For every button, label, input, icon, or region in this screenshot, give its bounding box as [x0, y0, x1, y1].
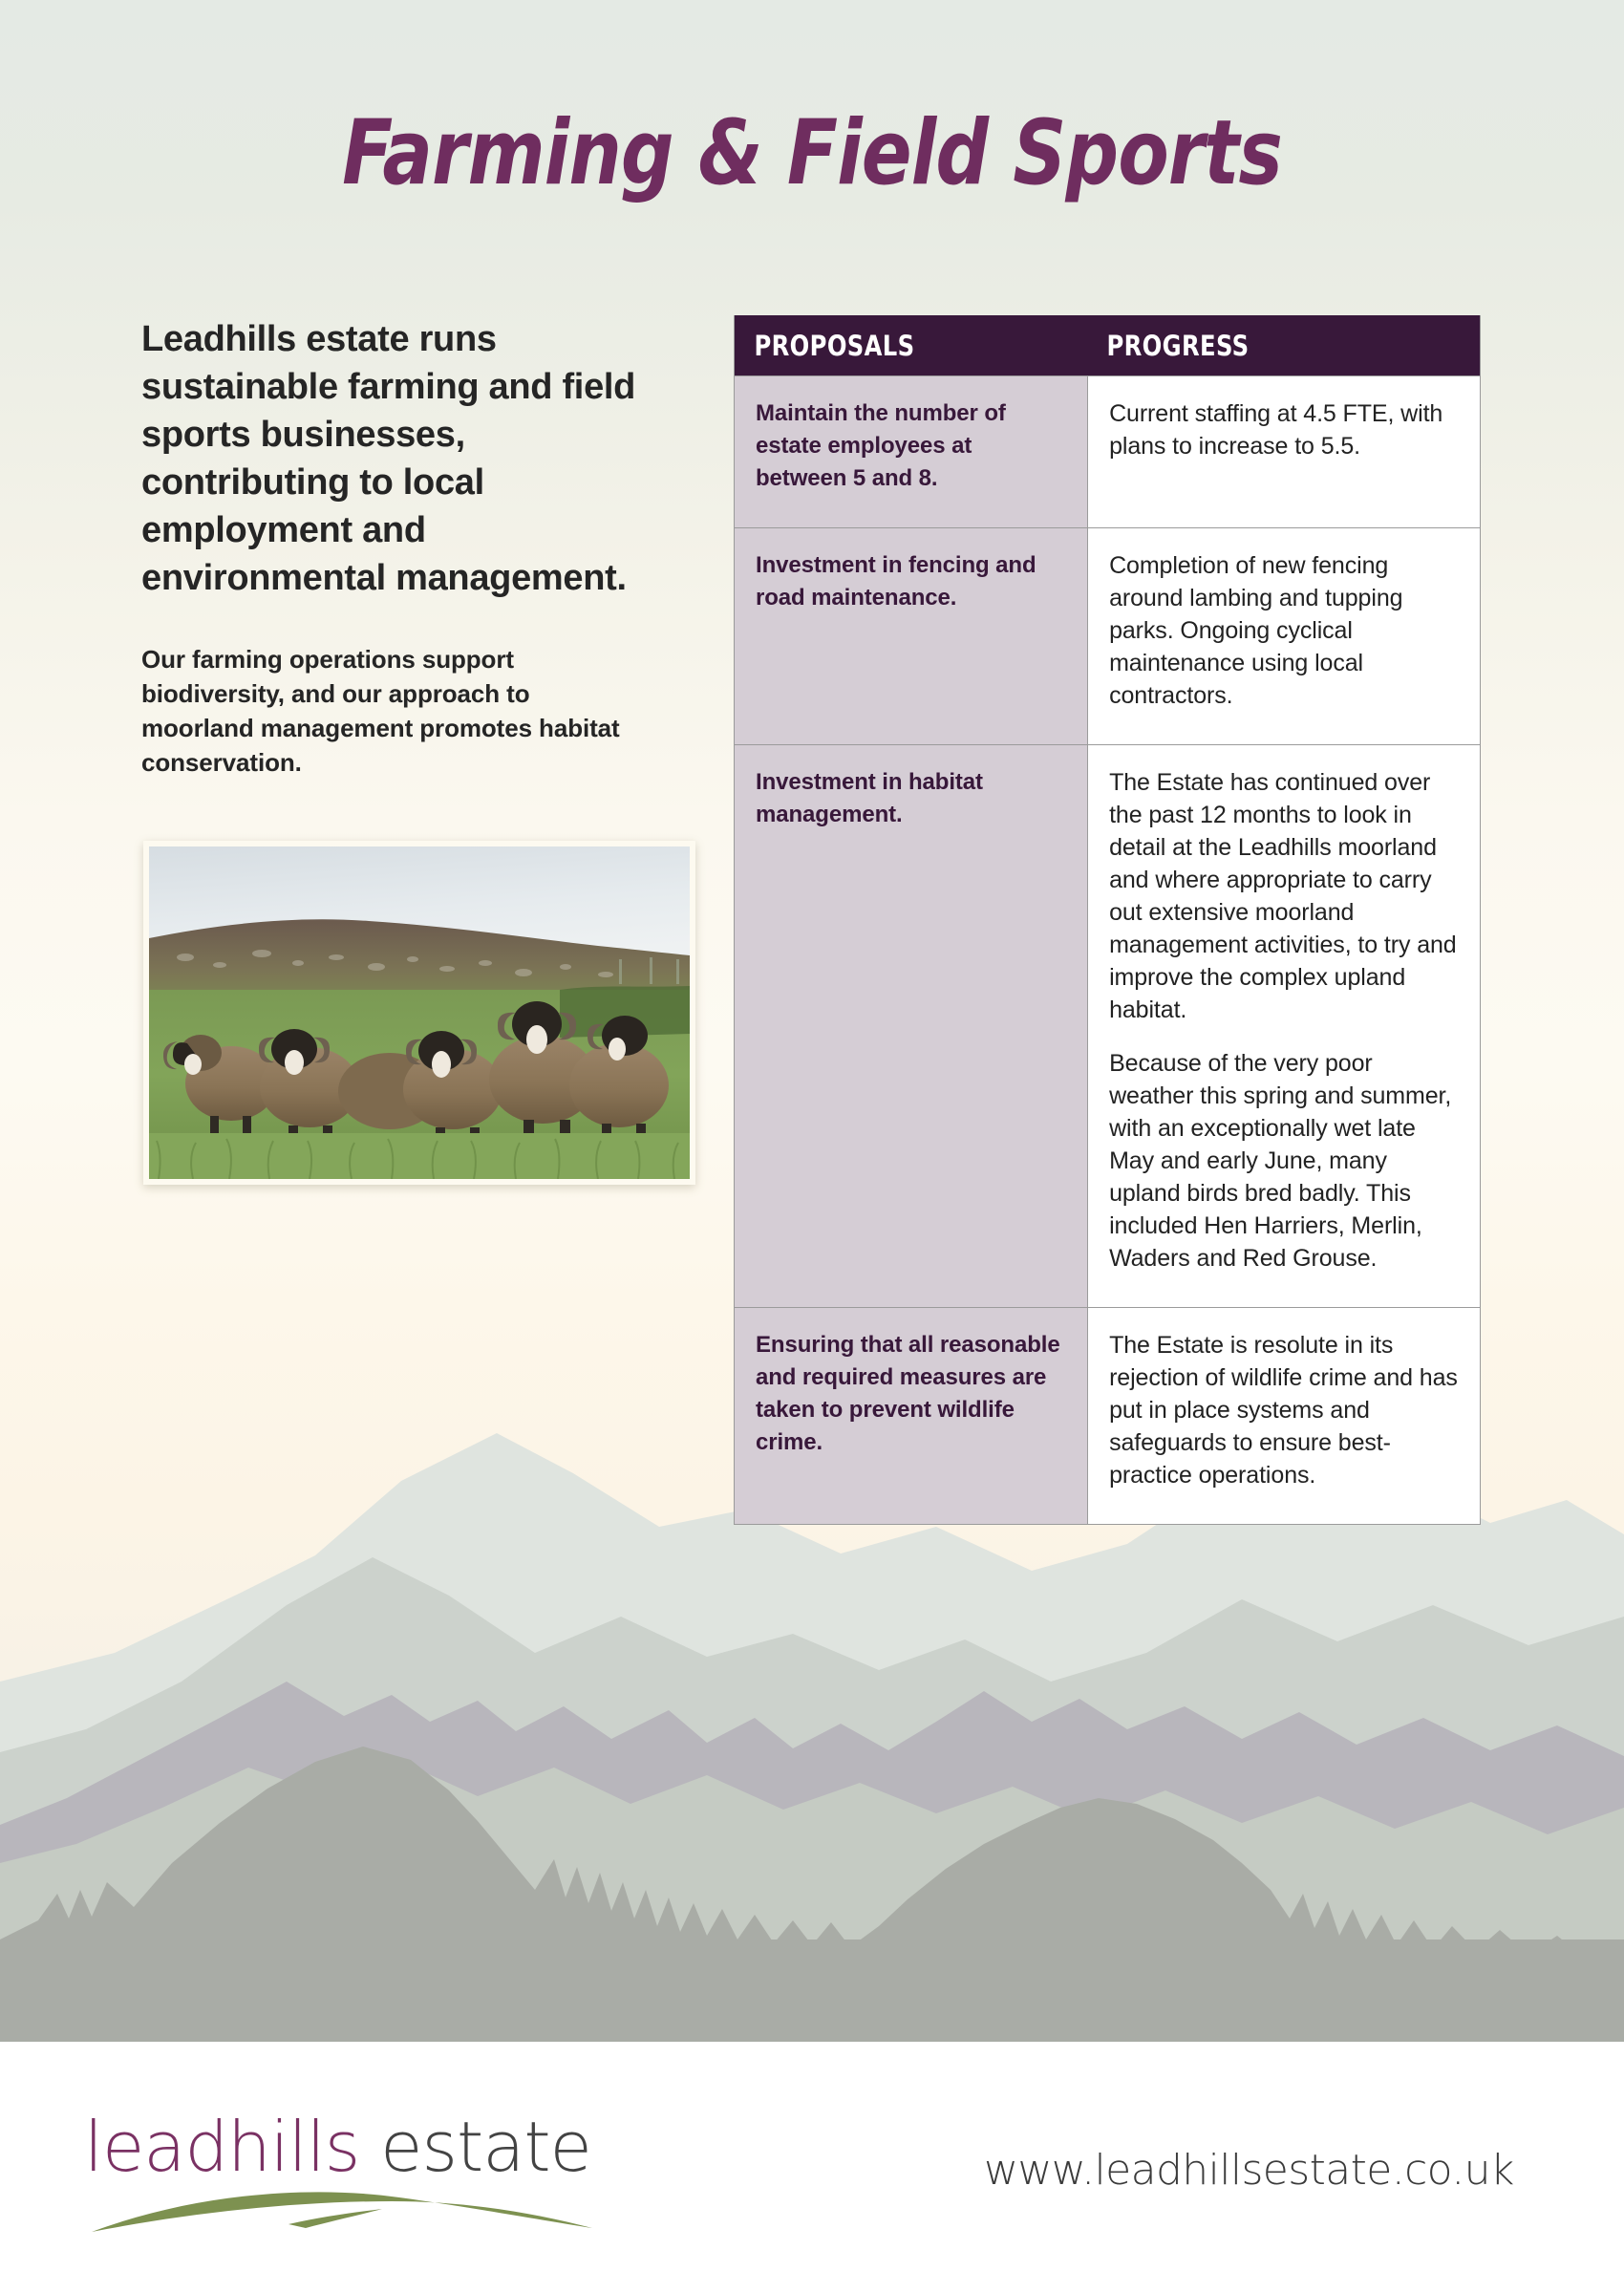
logo-word-leadhills: leadhills: [84, 2107, 359, 2187]
sheep-photo-frame: [143, 841, 695, 1185]
cell-proposal: Investment in fencing and road maintenan…: [735, 528, 1087, 744]
lead-paragraph: Leadhills estate runs sustainable farmin…: [141, 315, 648, 602]
cell-proposal: Maintain the number of estate employees …: [735, 376, 1087, 527]
table-row: Investment in habitat management. The Es…: [735, 744, 1480, 1307]
cell-progress: Completion of new fencing around lambing…: [1087, 528, 1480, 744]
table-row: Ensuring that all reasonable and require…: [735, 1307, 1480, 1524]
cell-proposal: Ensuring that all reasonable and require…: [735, 1308, 1087, 1524]
cell-proposal: Investment in habitat management.: [735, 745, 1087, 1307]
progress-paragraph: The Estate has continued over the past 1…: [1109, 766, 1459, 1026]
logo-swoosh-icon: [84, 2188, 600, 2234]
progress-paragraph: Completion of new fencing around lambing…: [1109, 549, 1459, 712]
leadhills-estate-logo: leadhills estate: [84, 2110, 600, 2234]
sub-paragraph: Our farming operations support biodivers…: [141, 642, 648, 780]
proposals-progress-table: PROPOSALS PROGRESS Maintain the number o…: [734, 315, 1481, 1525]
poster-page: Farming & Field Sports Leadhills estate …: [0, 0, 1624, 2293]
table-header-row: PROPOSALS PROGRESS: [735, 315, 1480, 375]
logo-word-estate: estate: [359, 2107, 591, 2187]
table-row: Investment in fencing and road maintenan…: [735, 527, 1480, 744]
left-column: Leadhills estate runs sustainable farmin…: [141, 315, 648, 780]
progress-paragraph: The Estate is resolute in its rejection …: [1109, 1329, 1459, 1491]
page-title: Farming & Field Sports: [65, 101, 1559, 205]
sheep-photo-illustration: [149, 846, 690, 1179]
progress-paragraph: Because of the very poor weather this sp…: [1109, 1047, 1459, 1275]
progress-paragraph: Current staffing at 4.5 FTE, with plans …: [1109, 397, 1459, 462]
website-url: www.leadhillsestate.co.uk: [984, 2146, 1514, 2195]
logo-wordmark: leadhills estate: [84, 2110, 600, 2184]
cell-progress: Current staffing at 4.5 FTE, with plans …: [1087, 376, 1480, 527]
sheep-photo: [149, 846, 690, 1179]
table-row: Maintain the number of estate employees …: [735, 375, 1480, 527]
cell-progress: The Estate is resolute in its rejection …: [1087, 1308, 1480, 1524]
cell-progress: The Estate has continued over the past 1…: [1087, 745, 1480, 1307]
column-header-progress: PROGRESS: [1087, 330, 1452, 362]
column-header-proposals: PROPOSALS: [735, 330, 1062, 362]
